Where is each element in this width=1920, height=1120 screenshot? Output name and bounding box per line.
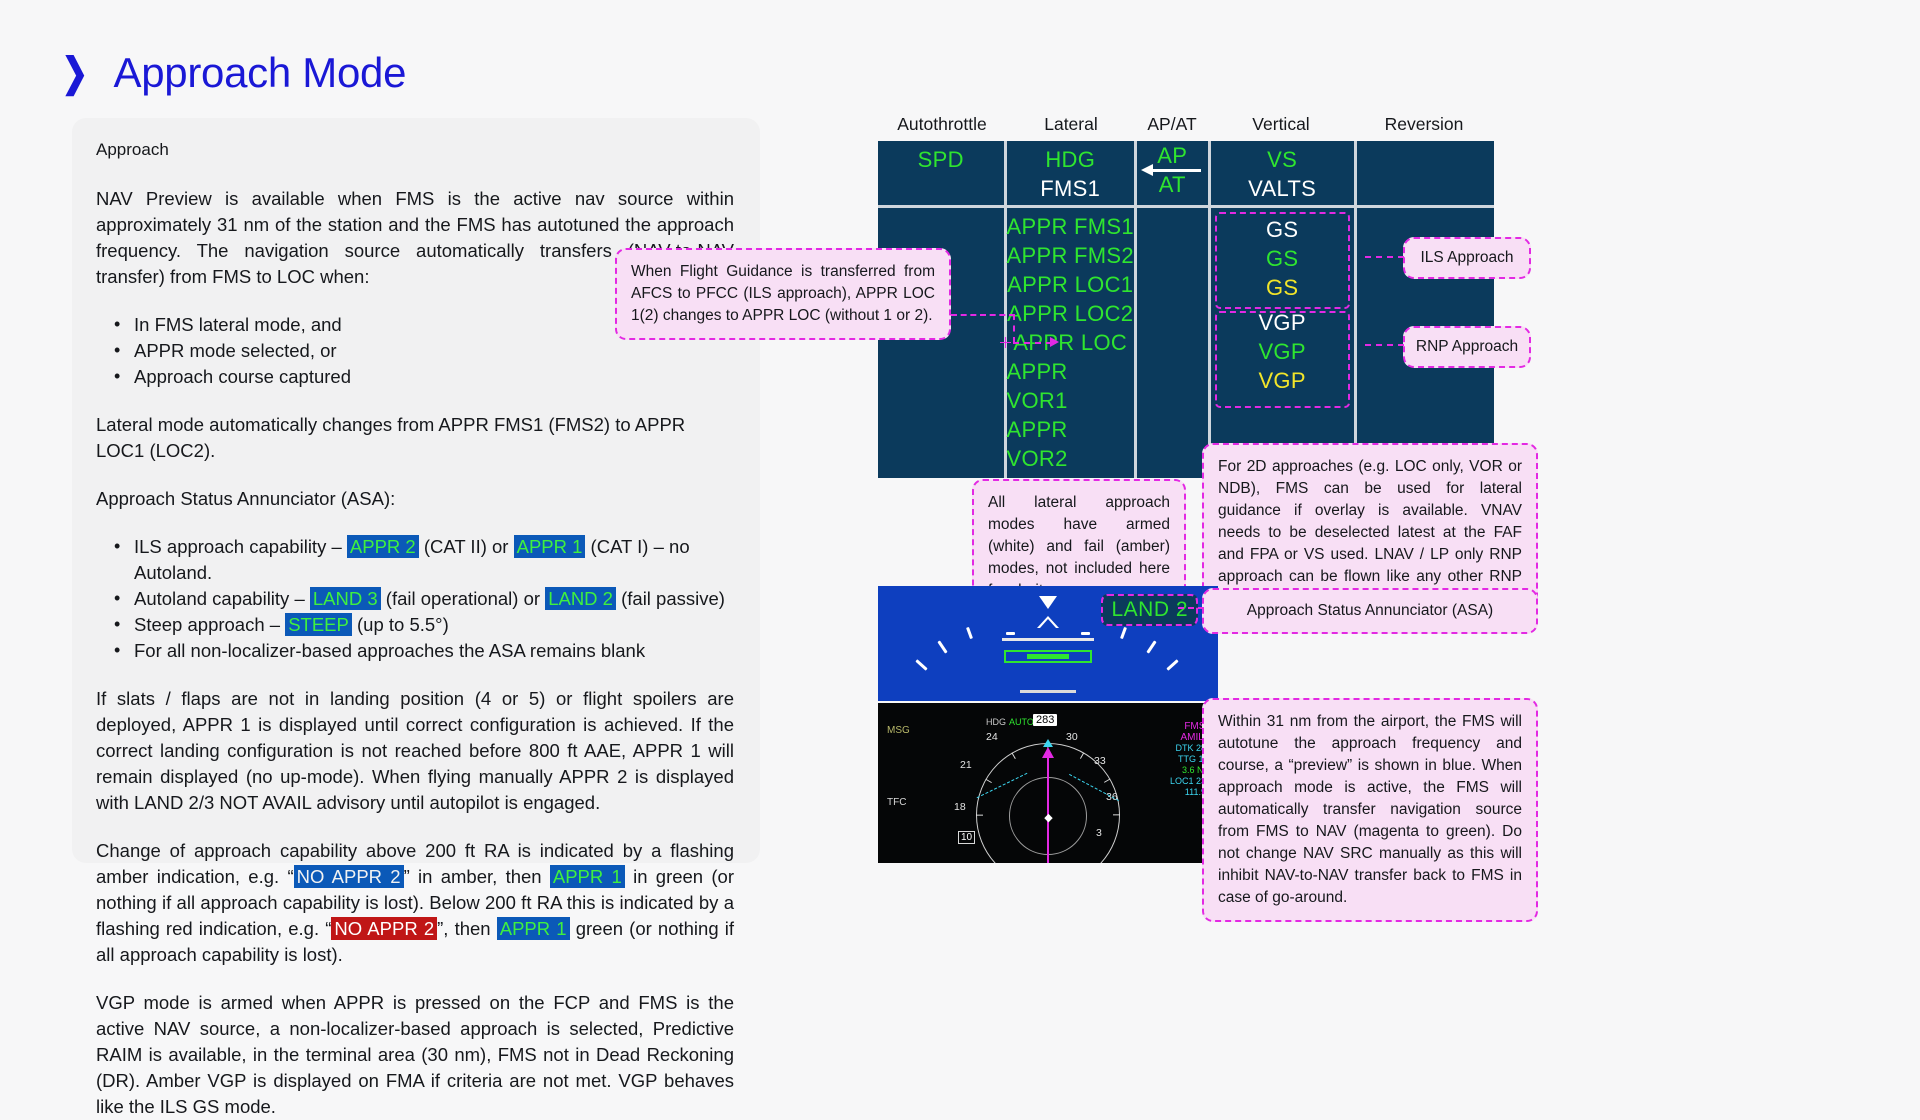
highlight-appr-1-green-2: APPR 1 [497, 917, 570, 940]
fma-vert-vgp-armed: VGP [1258, 308, 1305, 337]
nd-heading-value: 283 [1033, 714, 1057, 726]
list-item-non-localizer: For all non-localizer-based approaches t… [120, 638, 734, 664]
nd-hdg-label: HDG [986, 717, 1006, 727]
callout-rnp-approach: RNP Approach [1403, 326, 1531, 368]
compass-number: 18 [954, 801, 966, 813]
compass-number: 30 [1066, 731, 1078, 743]
text-fragment: ” in amber, then [404, 866, 550, 887]
fma-table: SPD HDG FMS1 AP AT VS VALTS APPR FMS1 AP… [878, 141, 1494, 478]
highlight-no-appr-2-amber: NO APPR 2 [294, 865, 404, 888]
connector-transfer-v [1013, 314, 1015, 343]
fma-cell-reversion-active [1357, 141, 1494, 205]
text-fragment: (fail operational) or [381, 588, 546, 609]
fma-cell-vertical-active: VS VALTS [1211, 141, 1354, 205]
fma-cell-autothrottle-active: SPD [878, 141, 1004, 205]
compass-number: 33 [1094, 755, 1106, 767]
fma-header-vertical: Vertical [1208, 114, 1354, 135]
fma-lat-appr-loc2: APPR LOC2 [1007, 299, 1133, 328]
compass-tick [976, 814, 983, 815]
fma-vert-gs-armed: GS [1266, 215, 1298, 244]
paragraph-capability-change: Change of approach capability above 200 … [96, 838, 734, 968]
fma-header-autothrottle: Autothrottle [878, 114, 1006, 135]
list-item: APPR mode selected, or [120, 338, 734, 364]
nd-msg-label: MSG [887, 725, 910, 736]
fma-mode-vs: VS [1267, 145, 1297, 174]
pfd-attitude-display: LAND 2 [878, 586, 1218, 701]
bank-scale-mark [1006, 632, 1015, 635]
nd-aircraft-symbol: ◆ [1044, 811, 1051, 824]
compass-tick [1113, 814, 1120, 815]
bank-pointer-triangle [1039, 596, 1057, 609]
asa-annunciator-land2: LAND 2 [1101, 594, 1198, 626]
roll-index-inner [1040, 619, 1056, 628]
text-fragment: ILS approach capability – [134, 536, 347, 557]
compass-number: 24 [986, 731, 998, 743]
fma-lat-appr-loc1: APPR LOC1 [1007, 270, 1133, 299]
fma-header-ap-at: AP/AT [1136, 114, 1208, 135]
highlight-appr-1-green: APPR 1 [550, 865, 625, 888]
connector-ils [1365, 256, 1404, 258]
bank-scale-mark [1081, 632, 1090, 635]
fma-mode-valts: VALTS [1248, 174, 1316, 203]
nd-track-line [1047, 755, 1049, 863]
fma-mode-at: AT [1159, 174, 1186, 196]
fma-row-approach: APPR FMS1 APPR FMS2 APPR LOC1 APPR LOC2 … [878, 208, 1494, 478]
list-item-autoland-capability: Autoland capability – LAND 3 (fail opera… [120, 586, 734, 612]
asa-capability-list: ILS approach capability – APPR 2 (CAT II… [96, 534, 734, 664]
nd-track-arrow [1042, 747, 1054, 758]
fma-row-active: SPD HDG FMS1 AP AT VS VALTS [878, 141, 1494, 205]
nd-navigation-display: MSG TFC HDG AUTO 283 30 33 36 3 24 21 18… [878, 703, 1218, 863]
connector-arrowhead-transfer [1050, 337, 1059, 347]
connector-transfer-h1 [951, 314, 1015, 316]
callout-asa: Approach Status Annunciator (ASA) [1202, 588, 1538, 634]
fma-mode-hdg: HDG [1045, 145, 1095, 174]
fma-header-lateral: Lateral [1006, 114, 1136, 135]
fma-vert-gs-captured: GS [1266, 244, 1298, 273]
text-fragment: (CAT II) or [419, 536, 514, 557]
page-title: Approach Mode [114, 52, 407, 94]
flight-director-bar [1027, 654, 1069, 659]
highlight-no-appr-2-red: NO APPR 2 [331, 917, 437, 940]
fma-cell-lateral-active: HDG FMS1 [1007, 141, 1134, 205]
paragraph-slats-flaps: If slats / flaps are not in landing posi… [96, 686, 734, 816]
highlight-land-2: LAND 2 [545, 587, 616, 610]
horizon-line [1002, 638, 1094, 641]
fma-cell-ap-at-approach [1137, 208, 1208, 478]
pitch-scale-mark [1020, 690, 1076, 693]
list-item: Approach course captured [120, 364, 734, 390]
approach-text-panel: Approach NAV Preview is available when F… [72, 118, 760, 863]
callout-ils-approach: ILS Approach [1403, 237, 1531, 279]
highlight-appr-2: APPR 2 [347, 535, 419, 558]
list-item-ils-capability: ILS approach capability – APPR 2 (CAT II… [120, 534, 734, 586]
text-fragment: Autoland capability – [134, 588, 310, 609]
nd-auto-label: AUTO [1009, 717, 1034, 727]
fma-header-reversion: Reversion [1354, 114, 1494, 135]
page-title-row: ❯ Approach Mode [58, 52, 406, 94]
compass-number: 3 [1096, 827, 1102, 839]
connector-asa [1178, 607, 1204, 609]
text-fragment: (fail passive) [616, 588, 725, 609]
text-fragment: ”, then [437, 918, 497, 939]
fma-mode-fms1: FMS1 [1040, 174, 1100, 203]
paragraph-lateral-mode: Lateral mode automatically changes from … [96, 412, 734, 464]
fma-cell-vertical-approach: GS GS GS VGP VGP VGP [1211, 208, 1354, 478]
connector-transfer-h2 [1013, 342, 1052, 344]
list-item-steep-approach: Steep approach – STEEP (up to 5.5°) [120, 612, 734, 638]
paragraph-vgp-mode: VGP mode is armed when APPR is pressed o… [96, 990, 734, 1120]
callout-flight-guidance-transfer: When Flight Guidance is transferred from… [615, 248, 951, 340]
callout-nav-preview-note: Within 31 nm from the airport, the FMS w… [1202, 698, 1538, 922]
arrow-left-icon [1141, 164, 1203, 177]
fma-vert-vgp-captured: VGP [1258, 337, 1305, 366]
chevron-right-icon: ❯ [61, 53, 88, 93]
compass-number: 21 [960, 759, 972, 771]
panel-heading: Approach [96, 140, 734, 160]
text-fragment: (up to 5.5°) [352, 614, 449, 635]
nd-preview-triangle [1043, 739, 1053, 747]
fma-cell-ap-at-active: AP AT [1137, 141, 1208, 205]
fma-vert-gs-fail: GS [1266, 273, 1298, 302]
fma-column-headers: Autothrottle Lateral AP/AT Vertical Reve… [878, 114, 1494, 135]
fma-lat-appr-fms2: APPR FMS2 [1007, 241, 1134, 270]
fma-lat-appr-vor2: APPR VOR2 [1007, 415, 1134, 473]
connector-rnp [1365, 344, 1404, 346]
text-fragment: Steep approach – [134, 614, 285, 635]
highlight-land-3: LAND 3 [310, 587, 381, 610]
highlight-steep: STEEP [285, 613, 352, 636]
nd-tfc-label: TFC [887, 797, 906, 808]
fma-vert-vgp-fail: VGP [1258, 366, 1305, 395]
paragraph-asa-intro: Approach Status Annunciator (ASA): [96, 486, 734, 512]
fma-lat-appr-vor1: APPR VOR1 [1007, 357, 1134, 415]
highlight-appr-1: APPR 1 [514, 535, 586, 558]
nd-range-box: 10 [958, 831, 975, 844]
fma-mode-spd: SPD [918, 145, 964, 174]
fma-lat-appr-fms1: APPR FMS1 [1007, 212, 1134, 241]
